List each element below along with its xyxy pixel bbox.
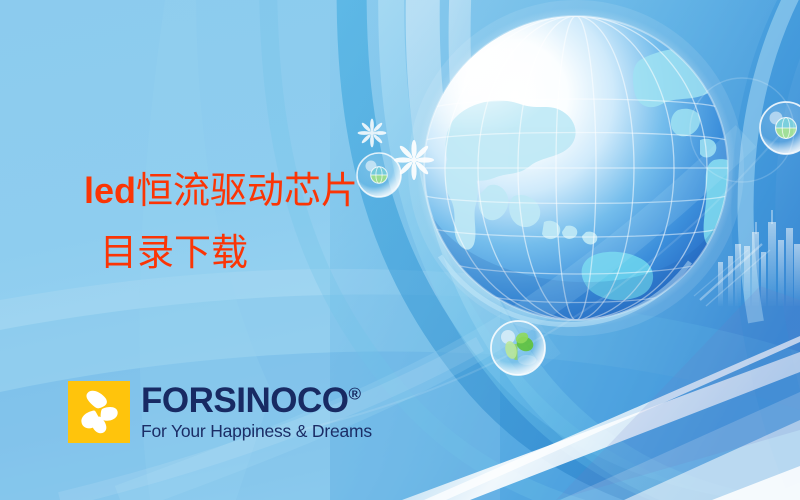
registered-trademark-icon: ®	[348, 384, 361, 403]
bubble-globe-icon	[357, 153, 401, 197]
logo-tagline: For Your Happiness & Dreams	[141, 421, 372, 441]
brand-logo: FORSINOCO® For Your Happiness & Dreams	[68, 381, 372, 443]
four-petal-pinwheel-icon	[68, 381, 130, 443]
bubble-leaf-icon	[491, 321, 545, 375]
banner-image: led恒流驱动芯片 目录下载 FORSINOCO® For Your Happ	[0, 0, 800, 500]
logo-text-block: FORSINOCO® For Your Happiness & Dreams	[141, 381, 372, 441]
logo-wordmark-text: FORSINOCO	[141, 381, 348, 420]
logo-wordmark: FORSINOCO®	[141, 383, 372, 418]
